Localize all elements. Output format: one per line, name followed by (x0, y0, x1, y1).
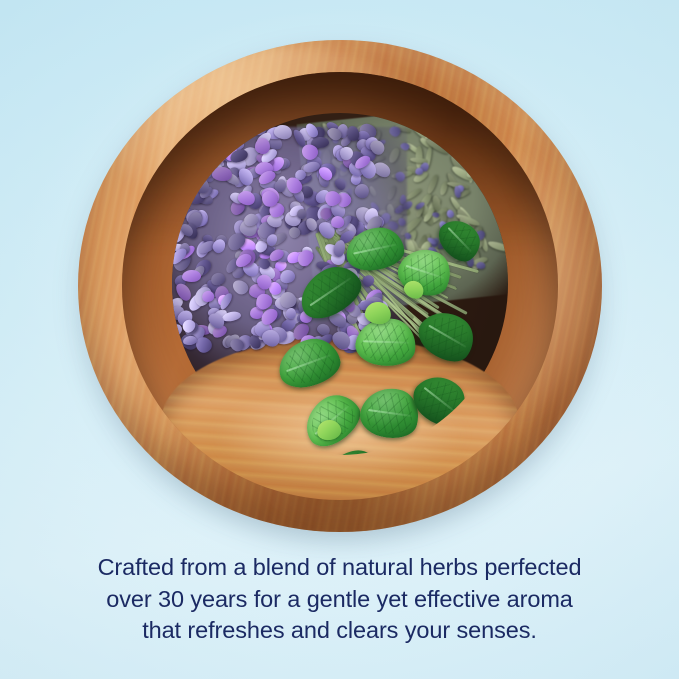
dried-leaf (405, 187, 422, 200)
bowl-outer-rim (78, 40, 602, 532)
dried-leaf (479, 181, 502, 195)
dried-leaf (426, 174, 439, 194)
lavender-floret (212, 167, 232, 181)
dried-lavender-bud (459, 139, 469, 150)
lavender-floret-bright (181, 269, 200, 282)
caption-line-1: Crafted from a blend of natural herbs pe… (0, 552, 679, 584)
dried-lavender-bud (446, 209, 455, 219)
caption-line-3: that refreshes and clears your senses. (0, 615, 679, 647)
wooden-bowl (78, 40, 602, 532)
caption-line-2: over 30 years for a gentle yet effective… (0, 584, 679, 616)
product-lifestyle-image: Crafted from a blend of natural herbs pe… (0, 0, 679, 679)
dried-lavender-bud (479, 143, 493, 156)
bowl-inner-wall (122, 72, 558, 499)
caption-text: Crafted from a blend of natural herbs pe… (0, 552, 679, 647)
